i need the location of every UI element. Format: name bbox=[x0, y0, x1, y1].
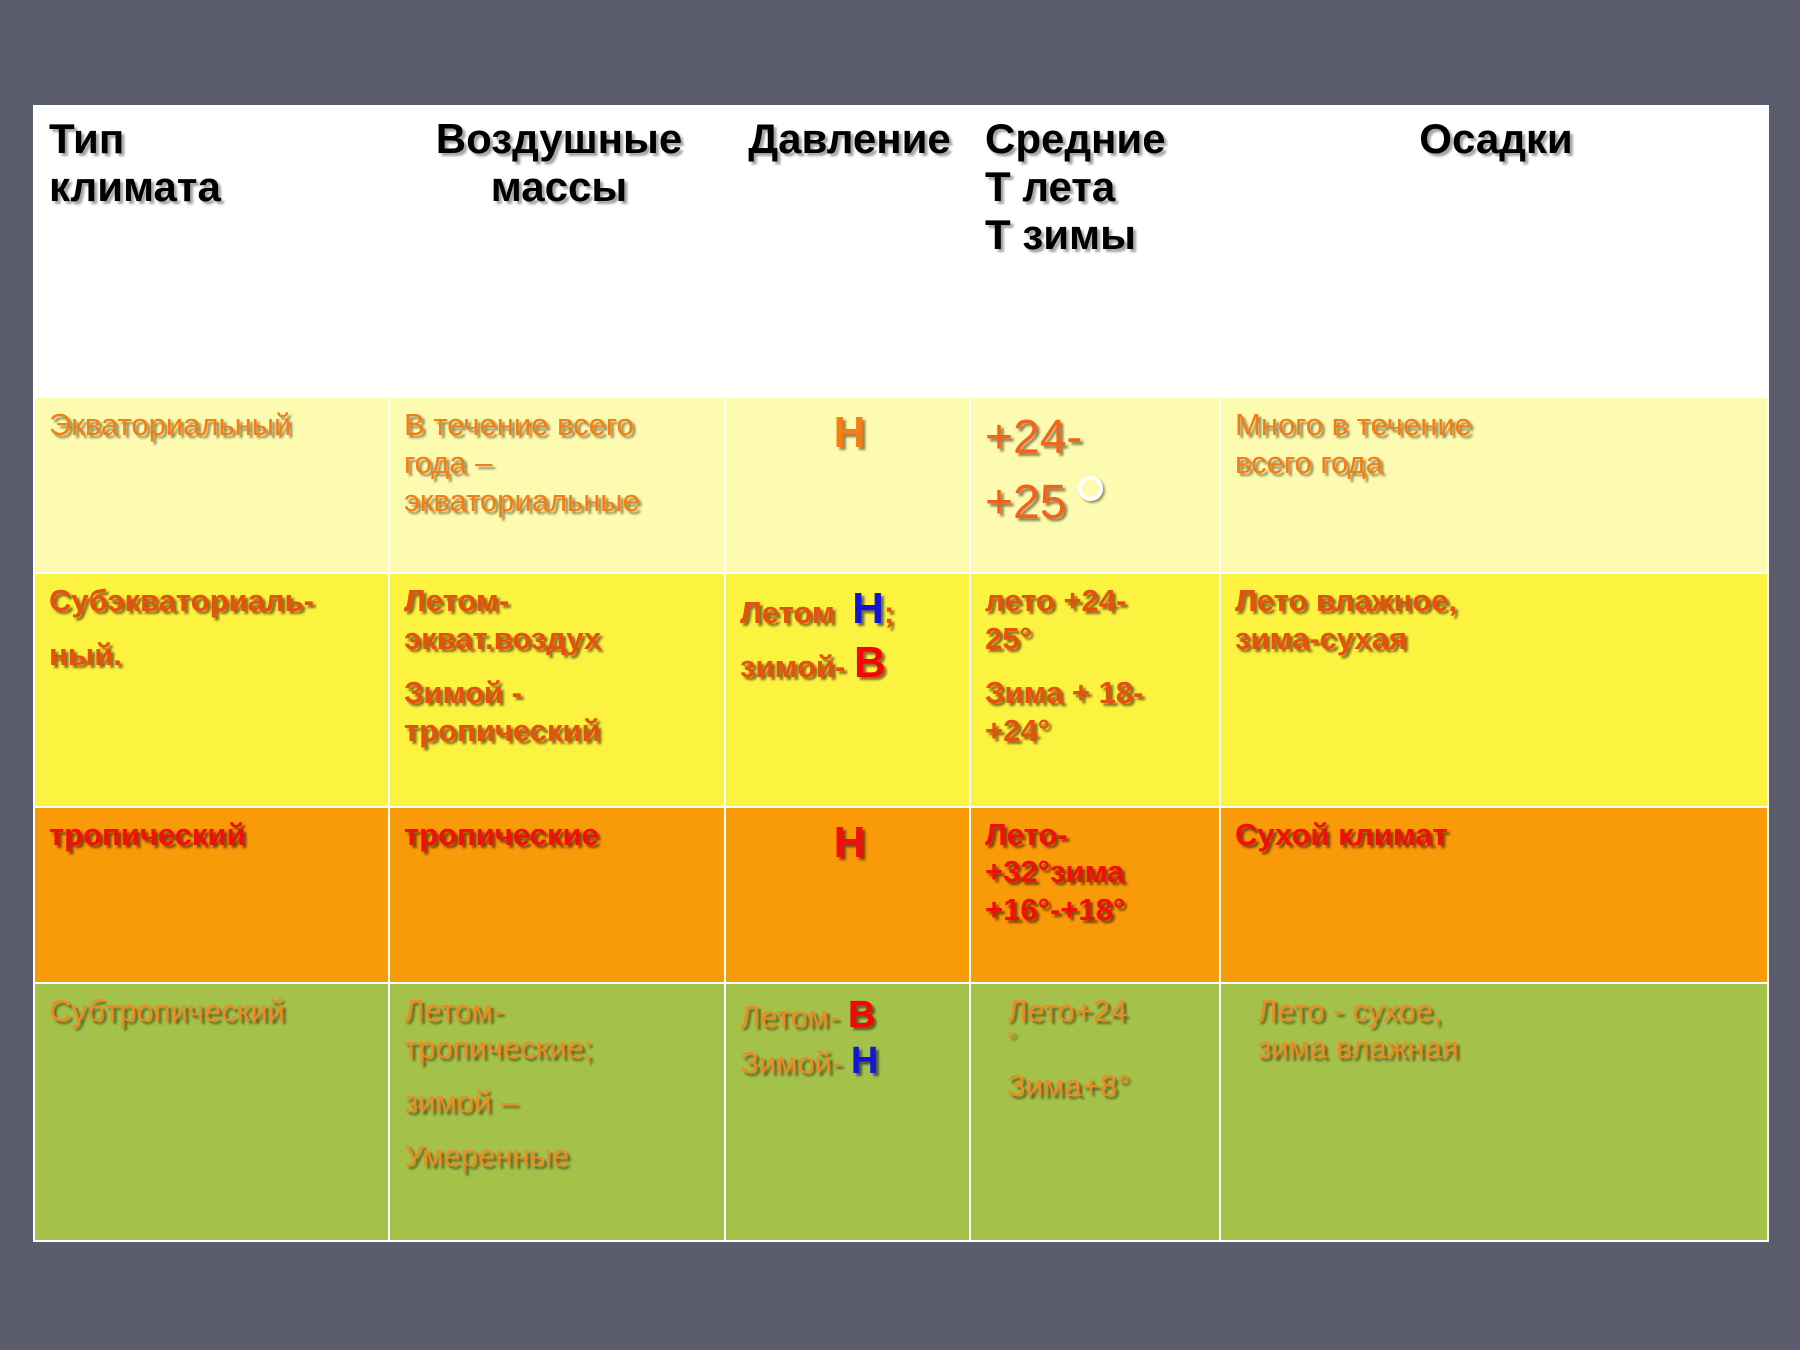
temp-summer-line-2: 25° bbox=[985, 620, 1209, 658]
header-cell-air-masses: Воздушные массы bbox=[389, 106, 725, 397]
header-cell-pressure: Давление bbox=[725, 106, 970, 397]
temp-summer-value: +24- bbox=[985, 406, 1209, 471]
cell-pressure-subequatorial: Летом Н; зимой- В bbox=[725, 573, 970, 806]
cell-air-masses-tropical: тропические bbox=[389, 807, 725, 983]
spacer bbox=[404, 658, 714, 674]
table-row: Экваториальный В течение всего года – эк… bbox=[34, 397, 1768, 573]
cell-temperature-subequatorial: лето +24- 25° Зима + 18- +24° bbox=[970, 573, 1220, 806]
table-row: тропический тропические Н Лето- +32°зима… bbox=[34, 807, 1768, 983]
degree-ring-icon bbox=[1078, 476, 1103, 501]
temp-summer-line: Лето+24 bbox=[985, 992, 1209, 1030]
spacer bbox=[404, 1067, 714, 1083]
table-header-row: Тип климата Воздушные массы Давление Сре… bbox=[34, 106, 1768, 397]
cell-temperature-tropical: Лето- +32°зима +16°-+18° bbox=[970, 807, 1220, 983]
header-cell-average-temperature: Средние Т лета Т зимы bbox=[970, 106, 1220, 397]
air-mass-line: тропические bbox=[404, 816, 714, 854]
pressure-summer-label: Летом- bbox=[740, 999, 839, 1034]
climate-table-container: Тип климата Воздушные массы Давление Сре… bbox=[33, 105, 1767, 1242]
table-row: Субэкваториаль- ный. Летом- экват.воздух… bbox=[34, 573, 1768, 806]
precipitation-line: зима-сухая bbox=[1235, 620, 1757, 658]
temp-summer-line-2: +32°зима bbox=[985, 853, 1209, 891]
air-mass-line: тропические; bbox=[404, 1029, 714, 1067]
cell-pressure-equatorial: Н bbox=[725, 397, 970, 573]
cell-precipitation-subequatorial: Лето влажное, зима-сухая bbox=[1220, 573, 1768, 806]
pressure-summer-group: Летом Н; bbox=[740, 582, 959, 636]
cell-pressure-tropical: Н bbox=[725, 807, 970, 983]
precipitation-line: Сухой климат bbox=[1235, 816, 1757, 854]
pressure-winter-group: зимой- В bbox=[740, 636, 959, 690]
cell-air-masses-subequatorial: Летом- экват.воздух Зимой - тропический bbox=[389, 573, 725, 806]
header-air-masses-line2: массы bbox=[404, 163, 714, 211]
cell-precipitation-subtropical: Лето - сухое, зима влажная bbox=[1220, 983, 1768, 1241]
temp-summer-degree: ° bbox=[985, 1029, 1209, 1051]
temp-winter-line: Зима+8° bbox=[985, 1067, 1209, 1105]
header-avg-temp-line1: Средние bbox=[985, 115, 1209, 163]
header-precipitation-line1: Осадки bbox=[1235, 115, 1757, 163]
pressure-letter-low: В bbox=[848, 994, 875, 1036]
spacer bbox=[985, 658, 1209, 674]
spacer bbox=[49, 620, 378, 636]
slide-canvas: Тип климата Воздушные массы Давление Сре… bbox=[0, 0, 1800, 1350]
header-climate-type-line1: Тип bbox=[49, 115, 378, 163]
cell-air-masses-equatorial: В течение всего года – экваториальные bbox=[389, 397, 725, 573]
cell-air-masses-subtropical: Летом- тропические; зимой – Умеренные bbox=[389, 983, 725, 1241]
cell-climate-type-equatorial: Экваториальный bbox=[34, 397, 389, 573]
air-mass-line: года – bbox=[404, 444, 714, 482]
pressure-punct: ; bbox=[884, 595, 894, 630]
cell-precipitation-tropical: Сухой климат bbox=[1220, 807, 1768, 983]
temp-winter-line: Зима + 18- bbox=[985, 674, 1209, 712]
precipitation-line: Лето влажное, bbox=[1235, 582, 1757, 620]
air-mass-line: тропический bbox=[404, 712, 714, 750]
cell-pressure-subtropical: Летом- В Зимой- Н bbox=[725, 983, 970, 1241]
header-avg-temp-line3: Т зимы bbox=[985, 211, 1209, 259]
precipitation-line: Лето - сухое, bbox=[1235, 992, 1757, 1030]
header-air-masses-line1: Воздушные bbox=[404, 115, 714, 163]
pressure-summer-label: Летом bbox=[740, 595, 835, 630]
temp-summer-line: лето +24- bbox=[985, 582, 1209, 620]
climate-type-label: Субэкваториаль- bbox=[49, 582, 378, 620]
header-avg-temp-line2: Т лета bbox=[985, 163, 1209, 211]
header-climate-type-line2: климата bbox=[49, 163, 378, 211]
pressure-letter-high: Н bbox=[851, 1040, 878, 1082]
cell-climate-type-tropical: тропический bbox=[34, 807, 389, 983]
cell-climate-type-subtropical: Субтропический bbox=[34, 983, 389, 1241]
pressure-letter-high: Н bbox=[834, 818, 866, 867]
air-mass-line: Умеренные bbox=[404, 1137, 714, 1175]
air-mass-line: В течение всего bbox=[404, 406, 714, 444]
air-mass-line: зимой – bbox=[404, 1083, 714, 1121]
cell-climate-type-subequatorial: Субэкваториаль- ный. bbox=[34, 573, 389, 806]
pressure-winter-label: зимой- bbox=[740, 649, 845, 684]
air-mass-line: экват.воздух bbox=[404, 620, 714, 658]
climate-type-label: Экваториальный bbox=[49, 406, 378, 444]
temp-winter-number: +25 bbox=[985, 476, 1066, 529]
air-mass-line: Зимой - bbox=[404, 674, 714, 712]
air-mass-line: экваториальные bbox=[404, 482, 714, 520]
cell-temperature-subtropical: Лето+24 ° Зима+8° bbox=[970, 983, 1220, 1241]
cell-precipitation-equatorial: Много в течение всего года bbox=[1220, 397, 1768, 573]
climate-type-label: Субтропический bbox=[49, 992, 378, 1030]
pressure-letter-high: Н bbox=[852, 584, 884, 633]
temp-winter-line: +16°-+18° bbox=[985, 891, 1209, 929]
pressure-letter-high: Н bbox=[834, 408, 866, 457]
climate-type-label: тропический bbox=[49, 816, 378, 854]
pressure-winter-label: Зимой- bbox=[740, 1045, 842, 1080]
temp-winter-value: +25 bbox=[985, 471, 1209, 536]
precipitation-line: Много в течение bbox=[1235, 406, 1757, 444]
spacer bbox=[985, 1051, 1209, 1067]
header-cell-precipitation: Осадки bbox=[1220, 106, 1768, 397]
pressure-summer-group: Летом- В bbox=[740, 992, 959, 1038]
precipitation-line: зима влажная bbox=[1235, 1029, 1757, 1067]
pressure-winter-group: Зимой- Н bbox=[740, 1038, 959, 1084]
header-cell-climate-type: Тип климата bbox=[34, 106, 389, 397]
temp-summer-line: Лето- bbox=[985, 816, 1209, 854]
climate-type-label-2: ный. bbox=[49, 636, 378, 674]
climate-table: Тип климата Воздушные массы Давление Сре… bbox=[33, 105, 1769, 1242]
table-row: Субтропический Летом- тропические; зимой… bbox=[34, 983, 1768, 1241]
header-pressure-line1: Давление bbox=[740, 115, 959, 163]
pressure-letter-low: В bbox=[854, 638, 886, 687]
air-mass-line: Летом- bbox=[404, 992, 714, 1030]
spacer bbox=[404, 1121, 714, 1137]
precipitation-line: всего года bbox=[1235, 444, 1757, 482]
air-mass-line: Летом- bbox=[404, 582, 714, 620]
cell-temperature-equatorial: +24- +25 bbox=[970, 397, 1220, 573]
temp-winter-line-2: +24° bbox=[985, 712, 1209, 750]
